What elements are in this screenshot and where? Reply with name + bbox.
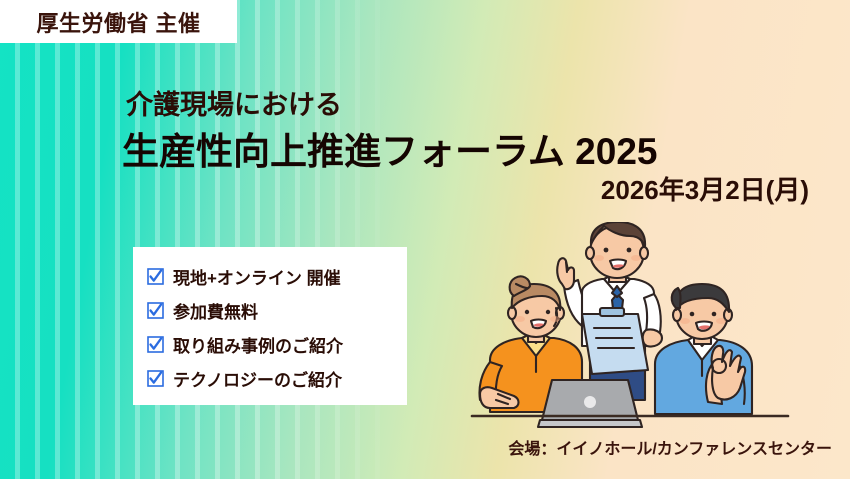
feature-label: 現地+オンライン 開催: [173, 264, 341, 289]
host-badge: 厚生労働省 主催: [0, 0, 237, 43]
feature-label: 参加費無料: [173, 298, 258, 323]
checked-box-icon: [147, 370, 164, 387]
three-people-illustration: .ln { fill:none; stroke:#2f2422; stroke-…: [470, 222, 790, 432]
feature-item: テクノロジーのご紹介: [133, 361, 407, 395]
poster-title: 生産性向上推進フォーラム 2025: [122, 121, 657, 175]
feature-label: テクノロジーのご紹介: [173, 366, 342, 391]
checked-box-icon: [147, 302, 164, 319]
feature-item: 参加費無料: [133, 293, 407, 327]
feature-item: 取り組み事例のご紹介: [133, 327, 407, 361]
poster-subtitle: 介護現場における: [126, 83, 342, 122]
checked-box-icon: [147, 268, 164, 285]
event-poster: 厚生労働省 主催 介護現場における 生産性向上推進フォーラム 2025 2026…: [0, 0, 850, 479]
checked-box-icon: [147, 336, 164, 353]
pointing-hand: [557, 258, 574, 289]
feature-list-card: 現地+オンライン 開催 参加費無料 取り組み事例のご紹介: [133, 247, 407, 405]
man-blue-shirt: [655, 284, 752, 414]
laptop: [538, 380, 642, 427]
event-date: 2026年3月2日(月): [0, 170, 809, 207]
feature-item: 現地+オンライン 開催: [133, 259, 407, 293]
feature-label: 取り組み事例のご紹介: [173, 332, 343, 357]
venue-text: 会場：イイノホール/カンファレンスセンター: [508, 435, 832, 459]
host-badge-label: 厚生労働省 主催: [36, 6, 200, 38]
clipboard: [582, 308, 648, 374]
